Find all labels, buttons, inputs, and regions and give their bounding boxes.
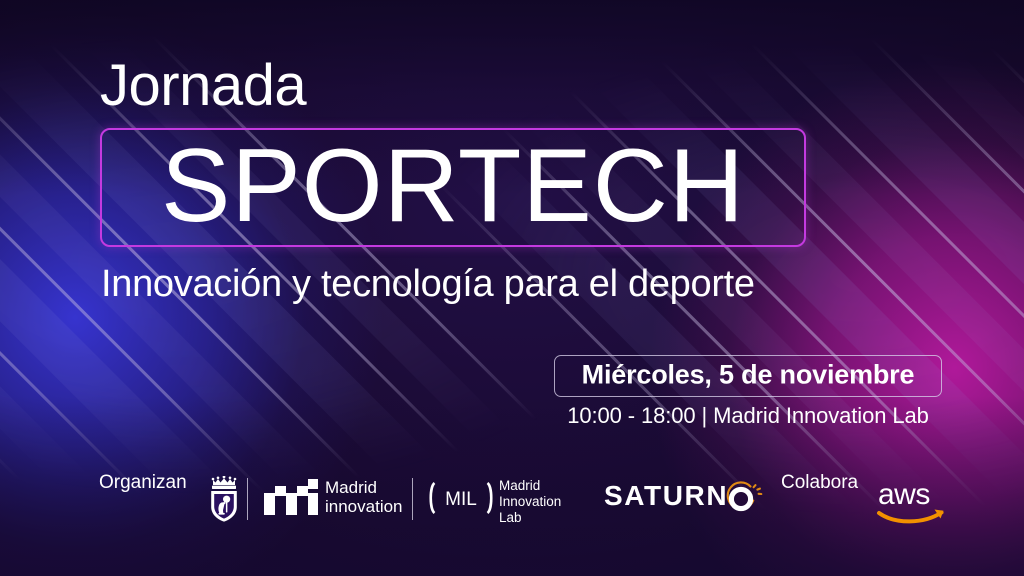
- aws-wordmark-text: aws: [878, 478, 930, 511]
- event-poster: Jornada SPORTECH Innovación y tecnología…: [0, 0, 1024, 576]
- eyebrow-jornada: Jornada: [100, 57, 306, 115]
- organizers-label: Organizan: [99, 472, 187, 494]
- subtitle: Innovación y tecnología para el deporte: [101, 264, 755, 306]
- poster-content: Jornada SPORTECH Innovación y tecnología…: [0, 0, 1024, 576]
- madrid-coat-of-arms-icon: [207, 476, 241, 527]
- collaborator-label: Colabora: [781, 472, 858, 494]
- sponsor-divider-2: [412, 478, 413, 520]
- madrid-innovation-wordmark-line2: innovation: [325, 497, 403, 516]
- mil-wordmark-line2: Innovation: [499, 494, 561, 510]
- sponsor-bar: Organizan: [0, 466, 1024, 536]
- madrid-innovation-wordmark: Madrid innovation: [325, 478, 403, 516]
- saturno-wordmark: SATURN: [604, 482, 728, 510]
- mil-wordmark: Madrid Innovation Lab: [499, 478, 561, 526]
- aws-logo: aws: [876, 478, 948, 529]
- saturno-logo: SATURN: [604, 482, 728, 510]
- sponsor-divider-1: [247, 478, 248, 520]
- mil-wordmark-line3: Lab: [499, 510, 561, 526]
- title-outline-box: SPORTECH: [100, 128, 806, 247]
- aws-smile-arrow-icon: [879, 510, 944, 522]
- mil-bracket-logo-icon: MIL: [426, 481, 496, 520]
- date-badge: Miércoles, 5 de noviembre: [554, 355, 942, 397]
- date-text: Miércoles, 5 de noviembre: [555, 360, 941, 391]
- page-title: SPORTECH: [102, 133, 804, 237]
- mil-wordmark-line1: Madrid: [499, 478, 561, 494]
- madrid-innovation-monogram-icon: [264, 479, 318, 520]
- mil-monogram-text: MIL: [445, 489, 477, 510]
- madrid-innovation-wordmark-line1: Madrid: [325, 478, 403, 497]
- saturno-ring-icon: [720, 478, 764, 523]
- schedule-venue-text: 10:00 - 18:00 | Madrid Innovation Lab: [554, 403, 942, 429]
